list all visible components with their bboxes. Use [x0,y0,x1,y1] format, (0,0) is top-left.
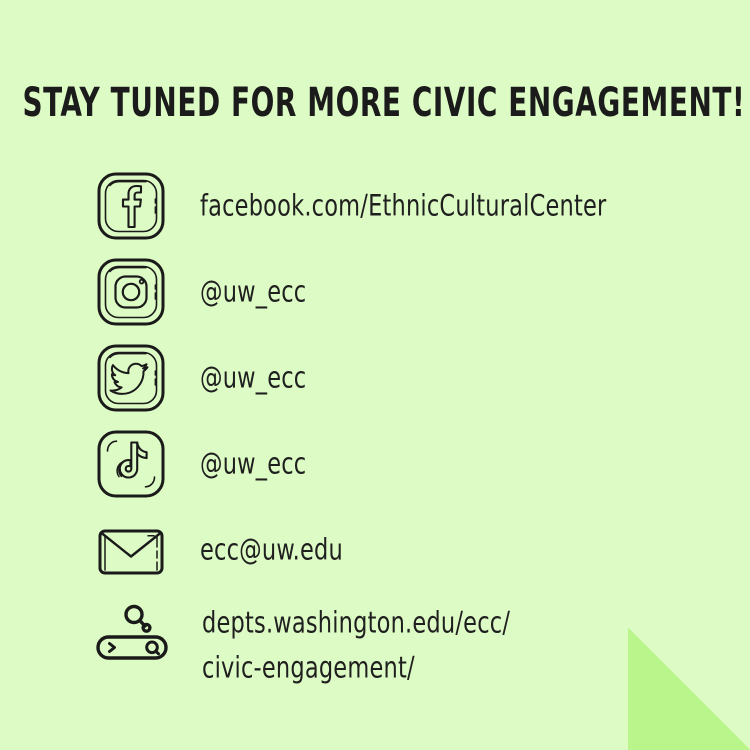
email-icon-cell [92,512,170,587]
facebook-icon-cell [92,168,170,243]
poster-canvas: STAY TUNED FOR MORE CIVIC ENGAGEMENT! [0,0,750,750]
tiktok-icon-cell [92,426,170,501]
instagram-icon [96,257,166,327]
facebook-icon [96,171,166,241]
instagram-handle[interactable]: @uw_ecc [200,265,712,318]
contact-row-tiktok[interactable]: @uw_ecc [92,426,712,501]
website-icon-cell [92,598,172,677]
email-icon [96,515,166,585]
contact-list: facebook.com/EthnicCulturalCenter [92,168,712,690]
contact-row-facebook[interactable]: facebook.com/EthnicCulturalCenter [92,168,712,243]
facebook-text-cell: facebook.com/EthnicCulturalCenter [170,168,712,243]
contact-row-instagram[interactable]: @uw_ecc [92,254,712,329]
twitter-icon-cell [92,340,170,415]
twitter-handle[interactable]: @uw_ecc [200,351,712,404]
website-search-icon [92,602,172,664]
website-text-cell: depts.washington.edu/ecc/ civic-engageme… [172,598,712,690]
tiktok-icon [96,429,166,499]
facebook-handle[interactable]: facebook.com/EthnicCulturalCenter [200,179,712,232]
instagram-icon-cell [92,254,170,329]
instagram-text-cell: @uw_ecc [170,254,712,329]
contact-row-website[interactable]: depts.washington.edu/ecc/ civic-engageme… [92,598,712,690]
website-url-line-2[interactable]: civic-engagement/ [202,641,712,694]
contact-row-twitter[interactable]: @uw_ecc [92,340,712,415]
page-title: STAY TUNED FOR MORE CIVIC ENGAGEMENT! [23,78,728,126]
email-address[interactable]: ecc@uw.edu [200,523,712,576]
contact-row-email[interactable]: ecc@uw.edu [92,512,712,587]
tiktok-handle[interactable]: @uw_ecc [200,437,712,490]
twitter-text-cell: @uw_ecc [170,340,712,415]
tiktok-text-cell: @uw_ecc [170,426,712,501]
twitter-icon [96,343,166,413]
email-text-cell: ecc@uw.edu [170,512,712,587]
